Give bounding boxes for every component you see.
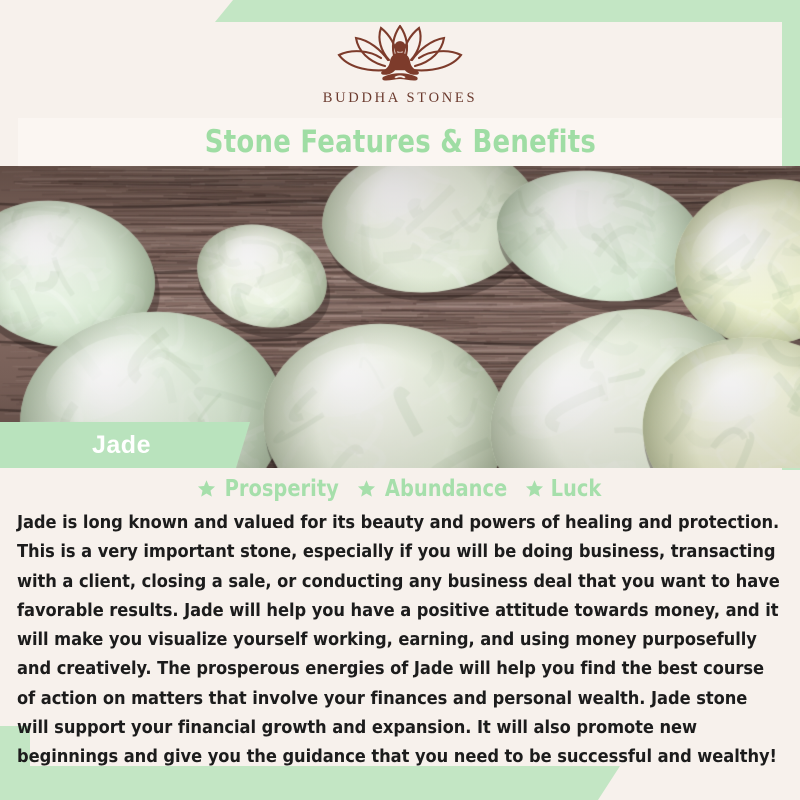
star-icon [357, 479, 376, 498]
decorative-band-top-right [215, 0, 800, 22]
benefit-label: Abundance [385, 476, 507, 502]
benefits-row: Prosperity Abundance Luck [0, 468, 800, 502]
brand-name: BUDDHA STONES [323, 90, 477, 107]
benefit-item: Luck [525, 476, 603, 502]
stone-description: Jade is long known and valued for its be… [0, 502, 800, 772]
benefit-label: Prosperity [225, 476, 339, 502]
content-section: Prosperity Abundance Luck Jade is long k… [0, 468, 800, 800]
benefit-label: Luck [550, 476, 601, 502]
benefit-item: Prosperity [197, 476, 342, 502]
stone-name-label: Jade [0, 431, 151, 460]
star-icon [197, 479, 216, 498]
infographic-card: BUDDHA STONES Stone Features & Benefits … [0, 0, 800, 800]
stone-name-band: Jade [0, 422, 250, 468]
lotus-meditation-icon [325, 22, 475, 88]
title-band: Stone Features & Benefits [18, 118, 782, 166]
page-title: Stone Features & Benefits [204, 124, 595, 160]
star-icon [525, 479, 544, 498]
benefit-item: Abundance [357, 476, 511, 502]
brand-logo-block: BUDDHA STONES [0, 22, 800, 118]
